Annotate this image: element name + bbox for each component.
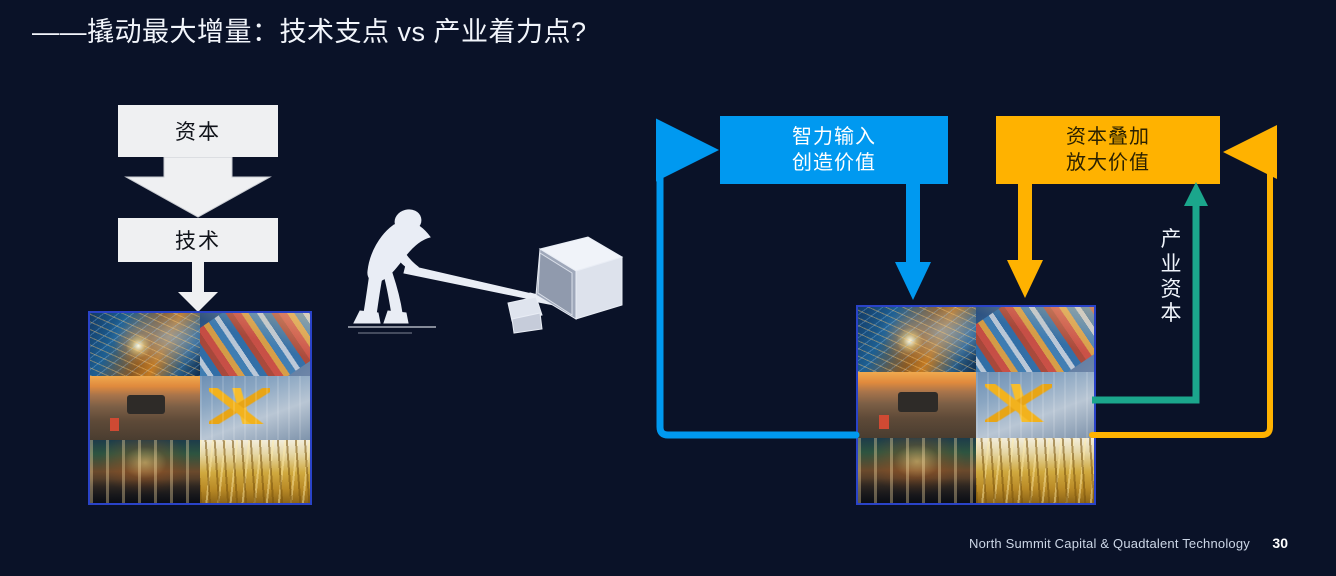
photo-robot-arms bbox=[976, 372, 1094, 437]
intellect-input-box: 智力输入 创造价值 bbox=[720, 116, 948, 184]
thick-down-arrow-icon bbox=[118, 157, 278, 219]
teal-up-arrowhead-icon bbox=[1184, 182, 1208, 206]
industry-photo-collage-right bbox=[856, 305, 1096, 505]
photo-plant bbox=[858, 438, 976, 503]
vlabel-char-2: 资 bbox=[1158, 278, 1184, 303]
page-title: ——撬动最大增量：技术支点 vs 产业着力点? bbox=[32, 10, 587, 49]
footer-company: North Summit Capital & Quadtalent Techno… bbox=[969, 536, 1250, 551]
photo-mining bbox=[90, 376, 200, 439]
vlabel-char-1: 业 bbox=[1158, 253, 1184, 278]
blue-loop-arrow bbox=[660, 150, 856, 435]
intellect-input-line2: 创造价值 bbox=[792, 150, 876, 176]
photo-robot-arms bbox=[200, 376, 310, 439]
capital-overlay-line2: 放大价值 bbox=[1066, 150, 1150, 176]
photo-port bbox=[200, 313, 310, 376]
capital-overlay-box: 资本叠加 放大价值 bbox=[996, 116, 1220, 184]
industry-photo-collage-left bbox=[88, 311, 312, 505]
man-with-lever-illustration bbox=[340, 195, 640, 355]
blue-down-arrow-icon bbox=[895, 184, 931, 300]
vlabel-char-3: 本 bbox=[1158, 302, 1184, 327]
photo-wheat bbox=[976, 438, 1094, 503]
intellect-input-line1: 智力输入 bbox=[792, 124, 876, 150]
technology-box: 技术 bbox=[118, 218, 278, 262]
photo-plant bbox=[90, 440, 200, 503]
down-arrow-icon bbox=[170, 262, 226, 314]
photo-port bbox=[976, 307, 1094, 372]
page-number: 30 bbox=[1272, 535, 1288, 551]
capital-box: 资本 bbox=[118, 105, 278, 157]
photo-mining bbox=[858, 372, 976, 437]
slide-canvas: ——撬动最大增量：技术支点 vs 产业着力点? 资本 技术 bbox=[0, 0, 1336, 576]
capital-overlay-line1: 资本叠加 bbox=[1066, 124, 1150, 150]
orange-down-arrow-icon bbox=[1007, 184, 1043, 298]
industry-capital-vertical-label: 产 业 资 本 bbox=[1158, 228, 1184, 327]
photo-wheat bbox=[200, 440, 310, 503]
vlabel-char-0: 产 bbox=[1158, 228, 1184, 253]
photo-welding bbox=[858, 307, 976, 372]
photo-welding bbox=[90, 313, 200, 376]
